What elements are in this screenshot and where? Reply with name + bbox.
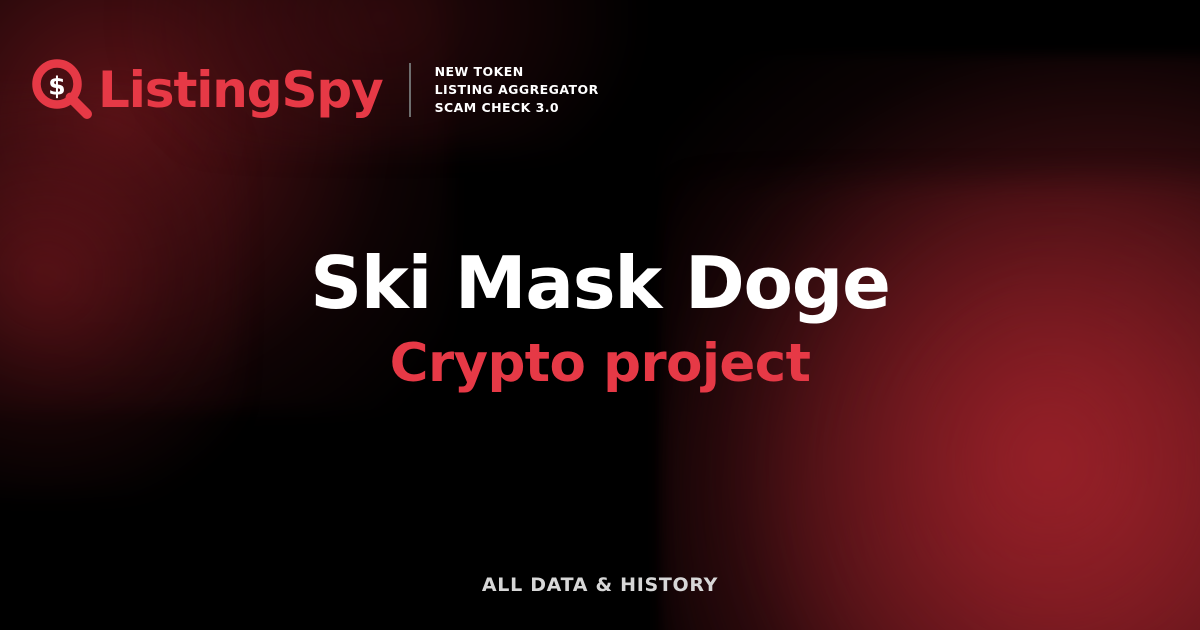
lockup-divider xyxy=(409,63,411,117)
footer-block: ALL DATA & HISTORY xyxy=(0,574,1200,596)
magnifier-dollar-icon: $ xyxy=(32,59,94,121)
hero-block: Ski Mask Doge Crypto project xyxy=(0,243,1200,393)
brand-wordmark: ListingSpy xyxy=(98,65,383,115)
tagline-line-3: SCAM CHECK 3.0 xyxy=(435,99,599,117)
page-title: Ski Mask Doge xyxy=(0,243,1200,324)
brand-lockup[interactable]: $ ListingSpy NEW TOKEN LISTING AGGREGATO… xyxy=(32,55,599,125)
tagline-line-1: NEW TOKEN xyxy=(435,63,599,81)
footer-caption: ALL DATA & HISTORY xyxy=(482,574,718,596)
svg-text:$: $ xyxy=(48,72,65,101)
tagline-line-2: LISTING AGGREGATOR xyxy=(435,81,599,99)
share-card: $ ListingSpy NEW TOKEN LISTING AGGREGATO… xyxy=(0,0,1200,630)
page-subtitle: Crypto project xyxy=(0,334,1200,393)
brand-tagline: NEW TOKEN LISTING AGGREGATOR SCAM CHECK … xyxy=(435,63,599,117)
